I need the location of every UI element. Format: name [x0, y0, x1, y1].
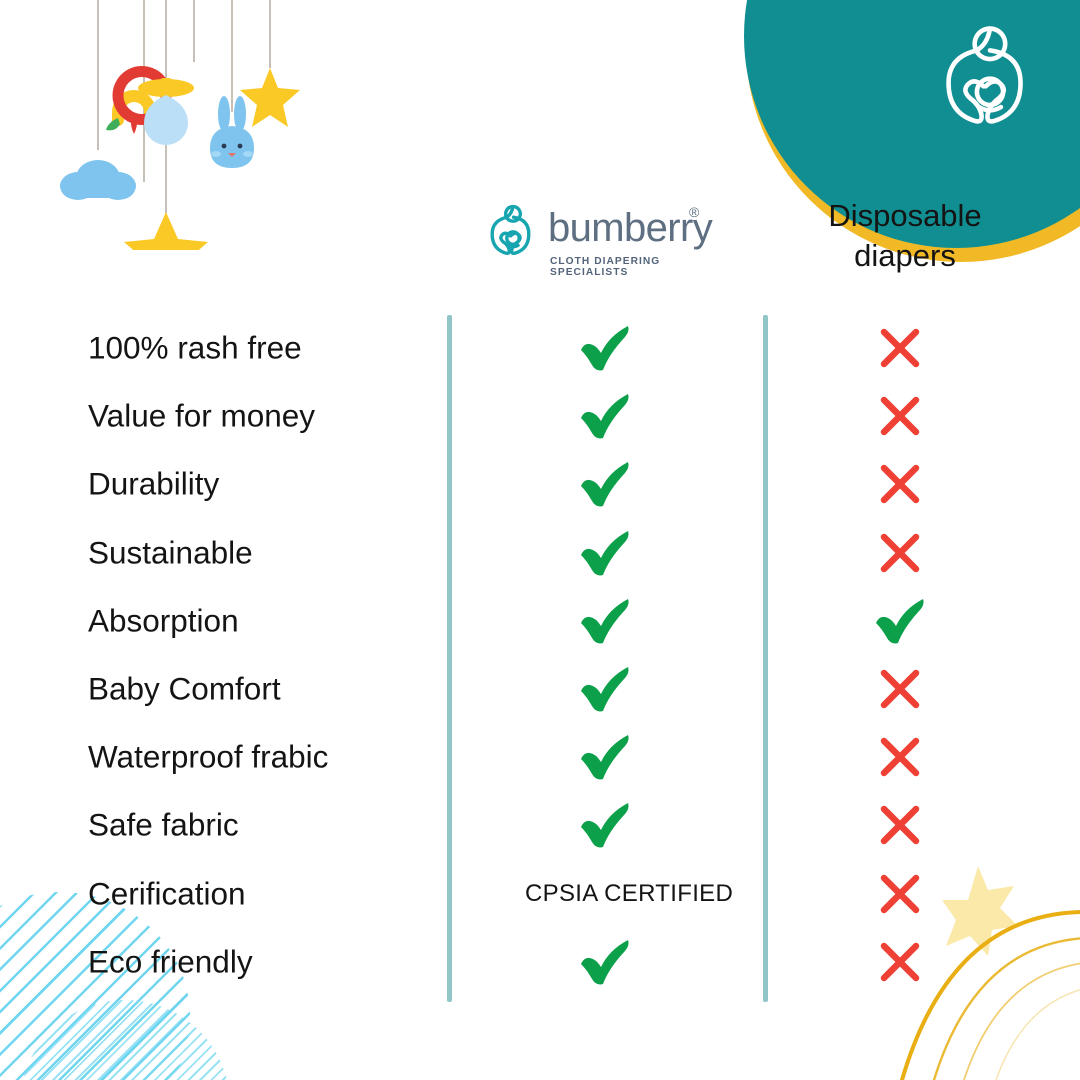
- table-row: Durability: [0, 450, 1080, 518]
- cell-disposable: [820, 666, 980, 712]
- feature-label: Durability: [88, 466, 219, 503]
- cell-bumberry: CPSIA CERTIFIED: [525, 880, 685, 908]
- cross-icon: [877, 461, 923, 507]
- comparison-infographic: bumberry ® CLOTH DIAPERING SPECIALISTS D…: [0, 0, 1080, 1080]
- table-row: Eco friendly: [0, 928, 1080, 996]
- check-icon: [576, 390, 634, 442]
- cell-disposable: [820, 393, 980, 439]
- cross-icon: [877, 802, 923, 848]
- cell-disposable: [820, 734, 980, 780]
- cell-disposable: [820, 939, 980, 985]
- feature-label: Safe fabric: [88, 807, 239, 844]
- certification-label: CPSIA CERTIFIED: [525, 880, 733, 907]
- table-row: Safe fabric: [0, 791, 1080, 859]
- check-icon: [871, 595, 929, 647]
- cross-icon: [877, 939, 923, 985]
- check-icon: [576, 458, 634, 510]
- cross-icon: [877, 871, 923, 917]
- table-row: Baby Comfort: [0, 655, 1080, 723]
- cross-icon: [877, 325, 923, 371]
- cell-bumberry: [525, 663, 685, 715]
- cell-bumberry: [525, 322, 685, 374]
- check-icon: [576, 663, 634, 715]
- feature-label: Baby Comfort: [88, 671, 281, 708]
- cell-bumberry: [525, 595, 685, 647]
- cross-icon: [877, 734, 923, 780]
- cell-disposable: [820, 802, 980, 848]
- table-row: Waterproof frabic: [0, 723, 1080, 791]
- cross-icon: [877, 666, 923, 712]
- cell-bumberry: [525, 731, 685, 783]
- check-icon: [576, 731, 634, 783]
- feature-label: Sustainable: [88, 534, 253, 571]
- check-icon: [576, 527, 634, 579]
- cross-icon: [877, 393, 923, 439]
- feature-label: Eco friendly: [88, 943, 253, 980]
- check-icon: [576, 595, 634, 647]
- check-icon: [576, 799, 634, 851]
- table-row: Absorption: [0, 587, 1080, 655]
- feature-label: Waterproof frabic: [88, 739, 328, 776]
- cross-icon: [877, 530, 923, 576]
- cell-disposable: [820, 530, 980, 576]
- feature-label: Cerification: [88, 875, 246, 912]
- feature-label: Absorption: [88, 602, 239, 639]
- cell-disposable: [820, 595, 980, 647]
- cell-bumberry: [525, 527, 685, 579]
- table-row: CerificationCPSIA CERTIFIED: [0, 860, 1080, 928]
- check-icon: [576, 322, 634, 374]
- cell-bumberry: [525, 799, 685, 851]
- table-row: Sustainable: [0, 519, 1080, 587]
- table-row: 100% rash free: [0, 314, 1080, 382]
- feature-label: Value for money: [88, 398, 315, 435]
- check-icon: [576, 936, 634, 988]
- cell-bumberry: [525, 390, 685, 442]
- table-row: Value for money: [0, 382, 1080, 450]
- cell-bumberry: [525, 458, 685, 510]
- cell-bumberry: [525, 936, 685, 988]
- cell-disposable: [820, 871, 980, 917]
- cell-disposable: [820, 461, 980, 507]
- feature-label: 100% rash free: [88, 330, 302, 367]
- comparison-table: 100% rash freeValue for moneyDurabilityS…: [0, 0, 1080, 1080]
- cell-disposable: [820, 325, 980, 371]
